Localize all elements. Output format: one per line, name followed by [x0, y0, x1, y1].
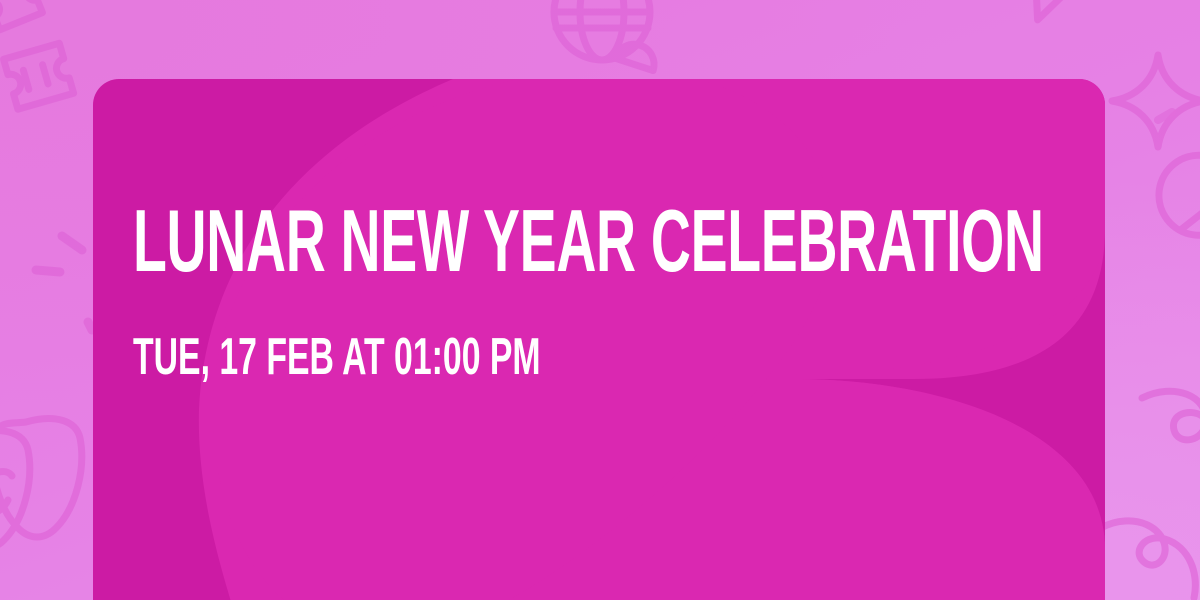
sparkle-icon — [1112, 55, 1200, 147]
event-date-time: TUE, 17 FEB AT 01:00 PM — [133, 337, 541, 378]
ticket-icon — [0, 0, 42, 30]
confetti-dash-icon — [36, 236, 92, 330]
theater-masks-icon — [0, 419, 82, 549]
balloon-icon — [1143, 139, 1200, 299]
party-popper-icon — [1012, 0, 1135, 20]
event-title: LUNAR NEW YEAR CELEBRATION — [133, 207, 1044, 276]
ticket-icon — [4, 43, 74, 109]
event-banner: LUNAR NEW YEAR CELEBRATION TUE, 17 FEB A… — [0, 0, 1200, 600]
event-card[interactable]: LUNAR NEW YEAR CELEBRATION TUE, 17 FEB A… — [93, 79, 1105, 600]
globe-icon — [554, 0, 650, 60]
card-text-block: LUNAR NEW YEAR CELEBRATION TUE, 17 FEB A… — [133, 79, 1093, 600]
